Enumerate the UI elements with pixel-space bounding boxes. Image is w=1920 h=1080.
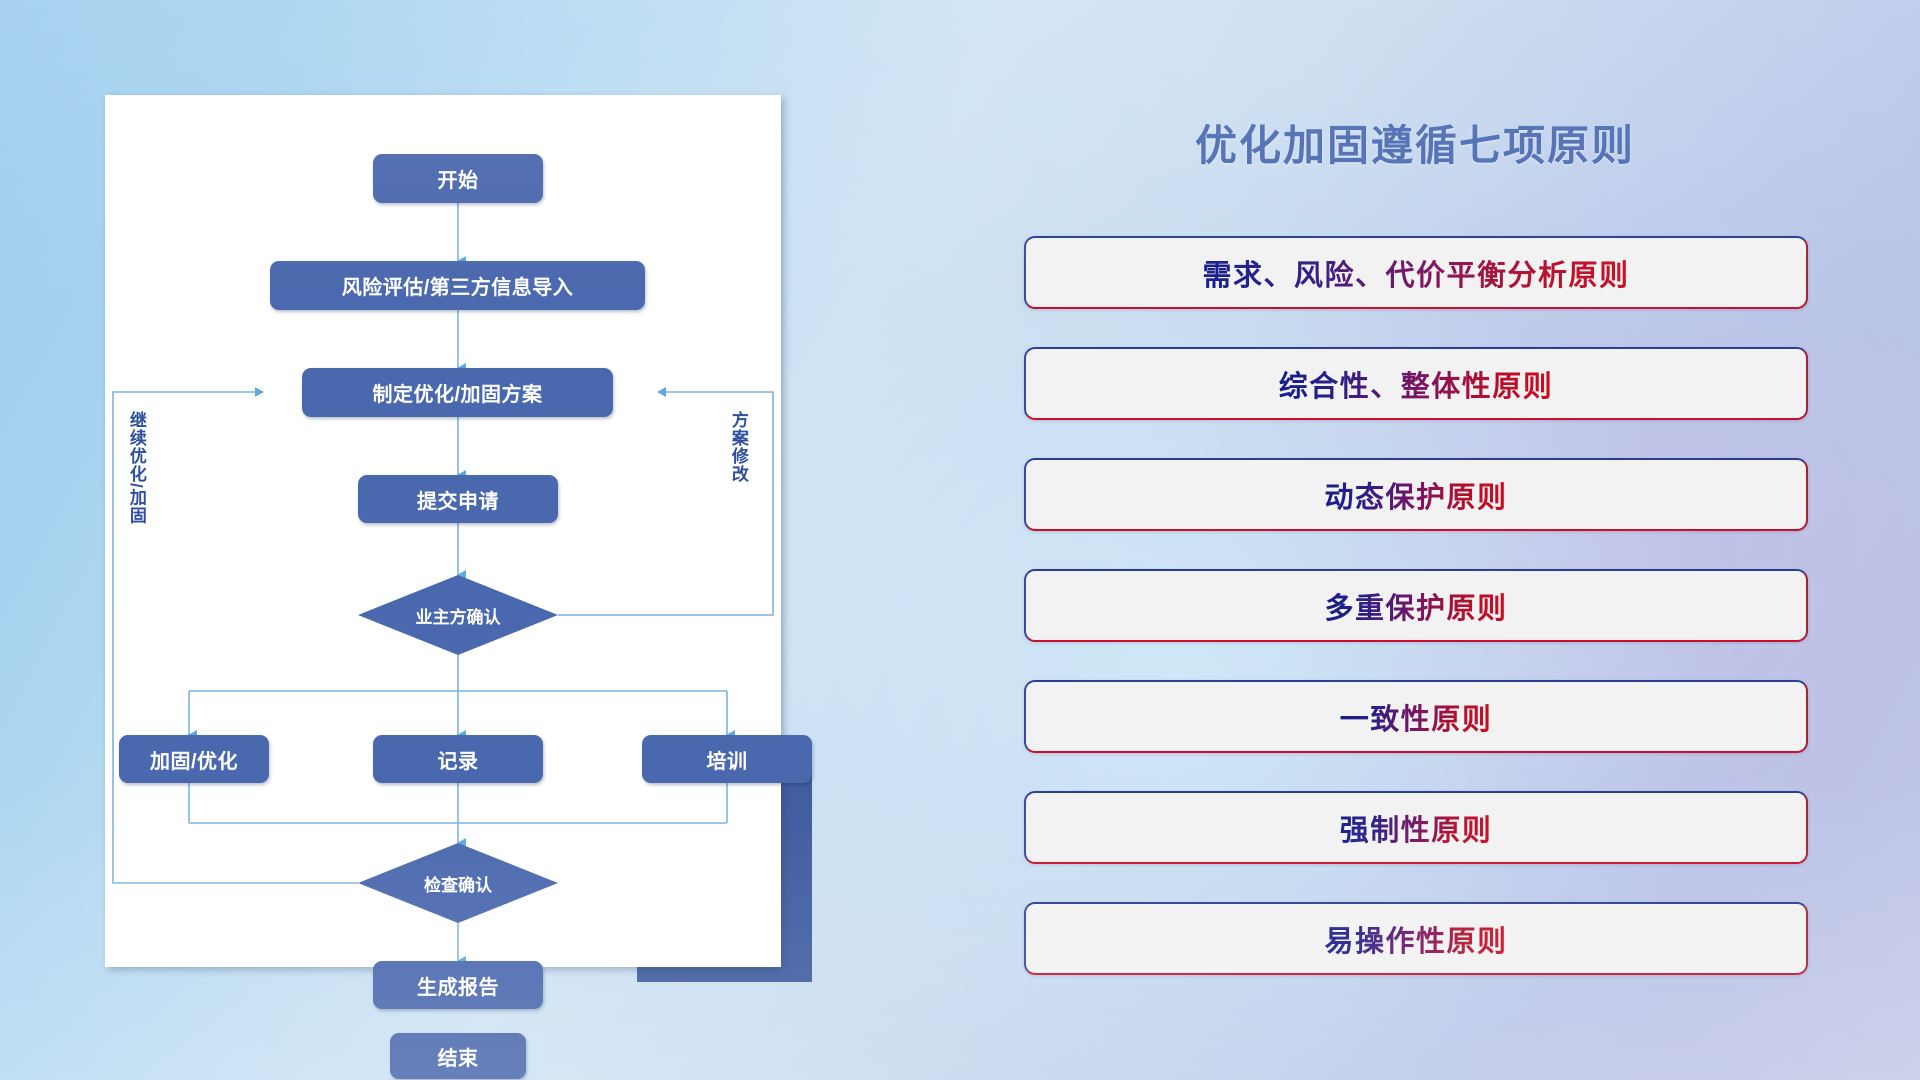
flow-node-end[interactable]: 结束	[390, 1033, 526, 1079]
principle-item-7[interactable]: 易操作性原则	[1024, 902, 1808, 975]
flow-node-label: 检查确认	[424, 871, 492, 896]
principle-item-3[interactable]: 动态保护原则	[1024, 458, 1808, 531]
principles-title: 优化加固遵循七项原则	[1020, 112, 1810, 173]
flow-node-risk-assessment[interactable]: 风险评估/第三方信息导入	[270, 261, 645, 310]
flow-node-label: 制定优化/加固方案	[372, 378, 542, 407]
flow-node-label: 提交申请	[417, 485, 499, 514]
flow-node-generate-report[interactable]: 生成报告	[373, 961, 543, 1009]
flowchart-card: 开始 风险评估/第三方信息导入 制定优化/加固方案 提交申请 业主方确认 加固/…	[105, 95, 781, 967]
flow-node-reinforce-optimize[interactable]: 加固/优化	[119, 735, 269, 783]
principle-label: 动态保护原则	[1324, 474, 1507, 516]
principle-item-1[interactable]: 需求、风险、代价平衡分析原则	[1024, 236, 1808, 309]
flowchart-feedback-loops	[105, 95, 781, 967]
principle-item-2[interactable]: 综合性、整体性原则	[1024, 347, 1808, 420]
flow-node-plan[interactable]: 制定优化/加固方案	[302, 368, 613, 417]
flow-node-label: 开始	[438, 164, 479, 193]
flow-node-owner-confirm[interactable]: 业主方确认	[358, 575, 558, 655]
flow-node-label: 风险评估/第三方信息导入	[342, 271, 574, 300]
edge-label-plan-revision: 方案修改	[729, 411, 747, 561]
flow-node-label: 记录	[438, 745, 479, 774]
principle-label: 易操作性原则	[1324, 918, 1507, 960]
flow-node-label: 生成报告	[417, 971, 499, 1000]
flow-node-record[interactable]: 记录	[373, 735, 543, 783]
flow-node-label: 培训	[707, 745, 748, 774]
edge-label-continue-optimize: 继续优化/加固	[127, 411, 145, 591]
principle-label: 强制性原则	[1340, 807, 1493, 849]
principle-item-4[interactable]: 多重保护原则	[1024, 569, 1808, 642]
principle-label: 多重保护原则	[1324, 585, 1507, 627]
principle-label: 综合性、整体性原则	[1279, 363, 1554, 405]
flow-node-submit-application[interactable]: 提交申请	[358, 475, 558, 523]
principle-label: 需求、风险、代价平衡分析原则	[1202, 252, 1629, 294]
slide-canvas: 开始 风险评估/第三方信息导入 制定优化/加固方案 提交申请 业主方确认 加固/…	[0, 0, 1920, 1080]
flow-node-label: 业主方确认	[416, 603, 501, 628]
flow-node-start[interactable]: 开始	[373, 154, 543, 203]
flow-node-check-confirm[interactable]: 检查确认	[358, 843, 558, 923]
principle-label: 一致性原则	[1340, 696, 1493, 738]
flow-node-label: 加固/优化	[150, 745, 238, 774]
principle-item-5[interactable]: 一致性原则	[1024, 680, 1808, 753]
flow-node-training[interactable]: 培训	[642, 735, 812, 783]
principle-item-6[interactable]: 强制性原则	[1024, 791, 1808, 864]
flow-node-label: 结束	[438, 1042, 479, 1071]
